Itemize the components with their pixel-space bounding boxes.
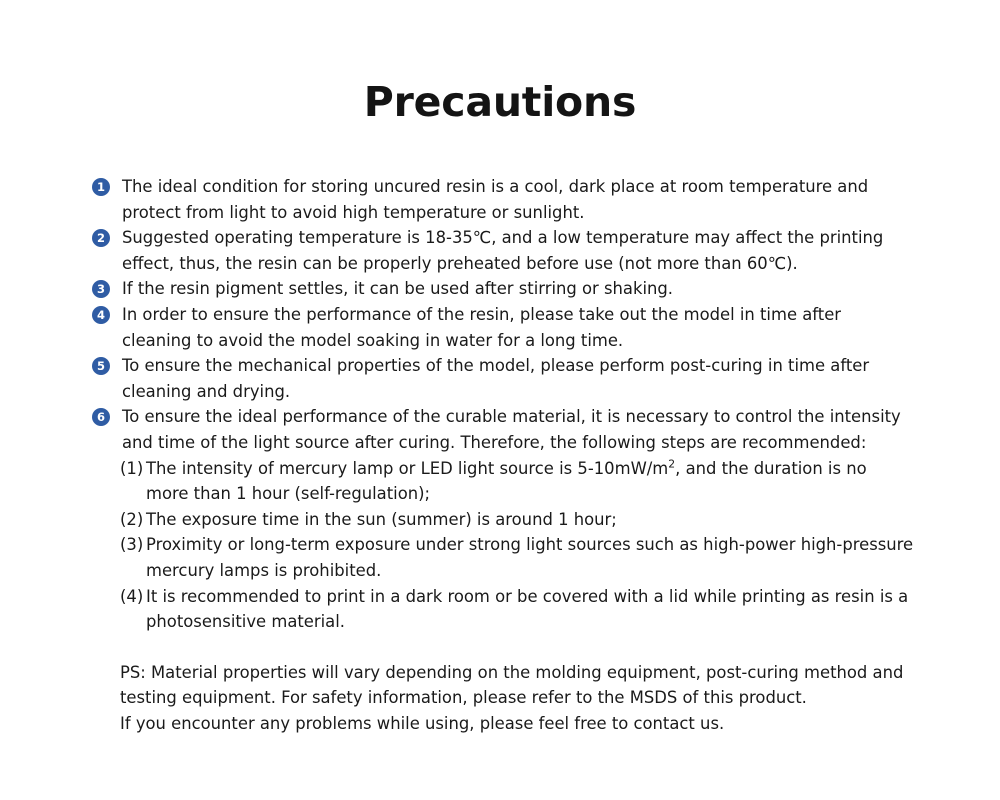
sub-list-marker-3: (3): [120, 532, 143, 558]
precautions-numbered-list: 1 The ideal condition for storing uncure…: [92, 174, 914, 456]
sub-list-item-text: The intensity of mercury lamp or LED lig…: [146, 456, 914, 507]
sub-list-marker-4: (4): [120, 584, 143, 610]
list-marker-1: 1: [92, 178, 110, 196]
list-item: 1 The ideal condition for storing uncure…: [92, 174, 914, 225]
list-item-text: In order to ensure the performance of th…: [122, 302, 914, 353]
list-item-text: If the resin pigment settles, it can be …: [122, 276, 914, 302]
postscript-note: PS: Material properties will vary depend…: [92, 660, 914, 737]
precautions-page: Precautions 1 The ideal condition for st…: [0, 0, 1000, 800]
sub-list-item: (4) It is recommended to print in a dark…: [120, 584, 914, 635]
sub-list-item: (2) The exposure time in the sun (summer…: [120, 507, 914, 533]
sub-list-marker-1: (1): [120, 456, 143, 482]
sub-text-part-before: The intensity of mercury lamp or LED lig…: [146, 459, 668, 478]
list-item: 2 Suggested operating temperature is 18-…: [92, 225, 914, 276]
postscript-line-1: PS: Material properties will vary depend…: [120, 660, 914, 711]
sub-list-item: (1) The intensity of mercury lamp or LED…: [120, 456, 914, 507]
list-item-text: To ensure the mechanical properties of t…: [122, 353, 914, 404]
precautions-content: 1 The ideal condition for storing uncure…: [92, 174, 914, 736]
list-marker-4: 4: [92, 306, 110, 324]
list-item: 4 In order to ensure the performance of …: [92, 302, 914, 353]
list-marker-6: 6: [92, 408, 110, 426]
sub-list-item-text: It is recommended to print in a dark roo…: [146, 584, 914, 635]
sub-list-item: (3) Proximity or long-term exposure unde…: [120, 532, 914, 583]
list-marker-2: 2: [92, 229, 110, 247]
list-item-text: To ensure the ideal performance of the c…: [122, 404, 914, 455]
sub-list-item-text: The exposure time in the sun (summer) is…: [146, 507, 914, 533]
list-item: 6 To ensure the ideal performance of the…: [92, 404, 914, 455]
page-title: Precautions: [0, 0, 1000, 127]
list-marker-3: 3: [92, 280, 110, 298]
sub-list-marker-2: (2): [120, 507, 143, 533]
list-item: 3 If the resin pigment settles, it can b…: [92, 276, 914, 302]
list-item-text: The ideal condition for storing uncured …: [122, 174, 914, 225]
precautions-sub-list: (1) The intensity of mercury lamp or LED…: [92, 456, 914, 635]
sub-list-item-text: Proximity or long-term exposure under st…: [146, 532, 914, 583]
postscript-line-2: If you encounter any problems while usin…: [120, 711, 914, 737]
list-item: 5 To ensure the mechanical properties of…: [92, 353, 914, 404]
list-marker-5: 5: [92, 357, 110, 375]
list-item-text: Suggested operating temperature is 18-35…: [122, 225, 914, 276]
